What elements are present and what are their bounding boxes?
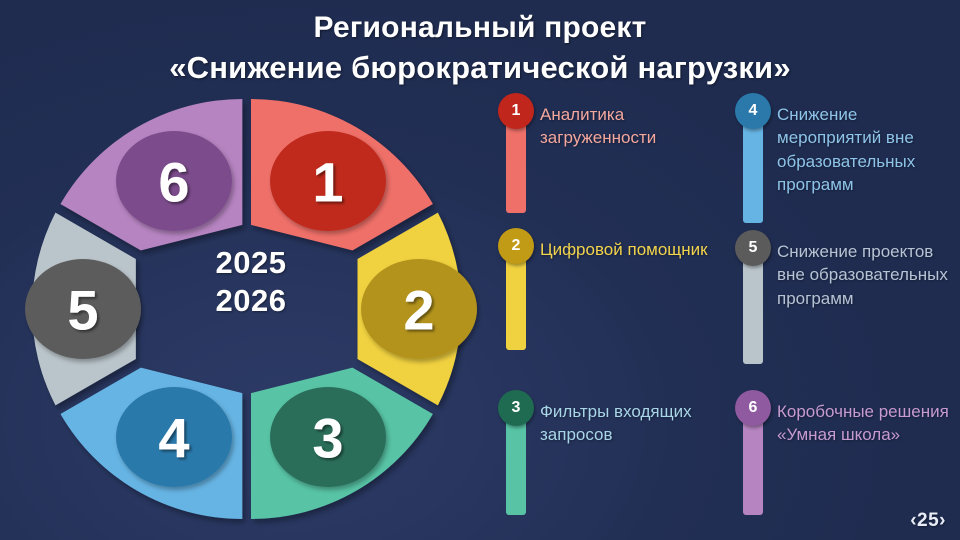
legend-badge-2[interactable]: 2	[498, 228, 534, 264]
legend-label-5: Снижение проектов вне образовательных пр…	[777, 240, 960, 310]
legend-label-1: Аналитика загруженности	[540, 103, 726, 150]
donut-svg: 1 2 3 4 5 6	[20, 78, 482, 540]
wheel-number-1: 1	[312, 151, 343, 214]
legend-label-6: Коробочные решения «Умная школа»	[777, 400, 960, 447]
legend-label-2: Цифровой помощник	[540, 238, 726, 261]
wheel-number-4: 4	[158, 407, 189, 470]
legend-label-4: Снижение мероприятий вне образовательных…	[777, 103, 960, 197]
wheel-number-5: 5	[67, 279, 98, 342]
legend-label-3: Фильтры входящих запросов	[540, 400, 726, 447]
legend-badge-4[interactable]: 4	[735, 93, 771, 129]
wheel-number-2: 2	[403, 279, 434, 342]
page-title: Региональный проект «Снижение бюрократич…	[0, 8, 960, 89]
slide-canvas: Региональный проект «Снижение бюрократич…	[0, 0, 960, 540]
legend-badge-3[interactable]: 3	[498, 390, 534, 426]
legend-badge-6[interactable]: 6	[735, 390, 771, 426]
page-number-indicator[interactable]: ‹25›	[910, 510, 946, 532]
legend-badge-5[interactable]: 5	[735, 230, 771, 266]
title-line-1: Региональный проект	[0, 8, 960, 48]
segmented-donut-diagram: 1 2 3 4 5 6 2025 2026	[20, 78, 482, 540]
wheel-number-3: 3	[312, 407, 343, 470]
legend-badge-1[interactable]: 1	[498, 93, 534, 129]
wheel-number-6: 6	[158, 151, 189, 214]
